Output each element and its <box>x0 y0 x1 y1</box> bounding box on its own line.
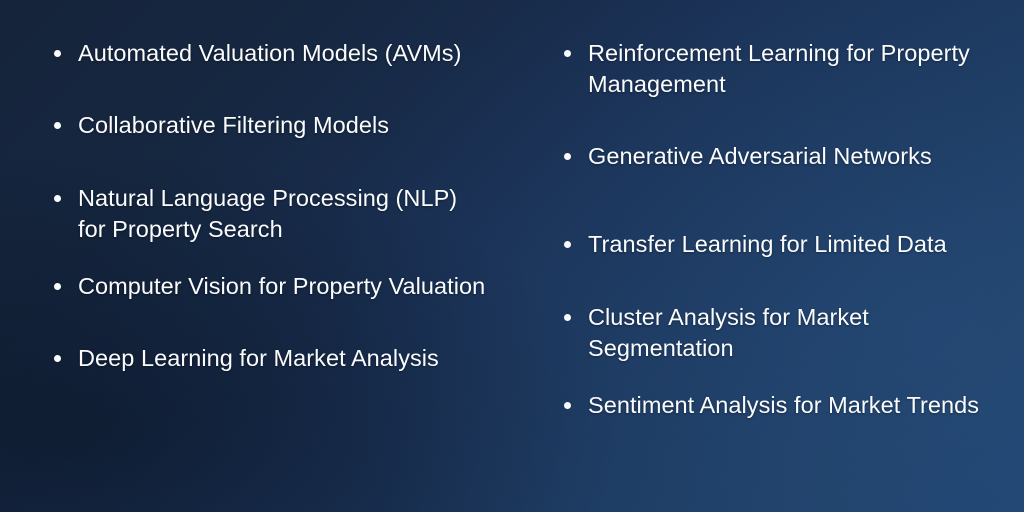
list-item-label: Generative Adversarial Networks <box>588 143 932 169</box>
slide-canvas: Automated Valuation Models (AVMs) Collab… <box>0 0 1024 512</box>
two-column-layout: Automated Valuation Models (AVMs) Collab… <box>0 0 1024 512</box>
list-item-label: Natural Language Processing (NLP) for Pr… <box>78 185 457 242</box>
right-column: Reinforcement Learning for Property Mana… <box>512 38 1024 512</box>
list-item: Computer Vision for Property Valuation <box>52 271 490 302</box>
list-item: Automated Valuation Models (AVMs) <box>52 38 490 69</box>
list-item: Natural Language Processing (NLP) for Pr… <box>52 183 490 245</box>
list-item-label: Cluster Analysis for Market Segmentation <box>588 304 869 361</box>
bullet-dot-icon <box>54 50 61 57</box>
bullet-dot-icon <box>564 153 571 160</box>
list-item: Generative Adversarial Networks <box>562 141 988 172</box>
left-column: Automated Valuation Models (AVMs) Collab… <box>0 38 512 512</box>
bullet-dot-icon <box>564 314 571 321</box>
list-item: Cluster Analysis for Market Segmentation <box>562 302 988 364</box>
bullet-dot-icon <box>54 355 61 362</box>
list-item: Sentiment Analysis for Market Trends <box>562 390 988 421</box>
list-item-label: Automated Valuation Models (AVMs) <box>78 40 461 66</box>
left-bullet-list: Automated Valuation Models (AVMs) Collab… <box>52 38 490 374</box>
bullet-dot-icon <box>564 241 571 248</box>
bullet-dot-icon <box>564 402 571 409</box>
list-item: Transfer Learning for Limited Data <box>562 229 988 260</box>
list-item-label: Transfer Learning for Limited Data <box>588 231 947 257</box>
list-item-label: Collaborative Filtering Models <box>78 112 389 138</box>
list-item-label: Computer Vision for Property Valuation <box>78 273 485 299</box>
bullet-dot-icon <box>54 283 61 290</box>
list-item-label: Sentiment Analysis for Market Trends <box>588 392 979 418</box>
list-item-label: Deep Learning for Market Analysis <box>78 345 439 371</box>
list-item: Collaborative Filtering Models <box>52 110 490 141</box>
right-bullet-list: Reinforcement Learning for Property Mana… <box>562 38 988 421</box>
bullet-dot-icon <box>54 195 61 202</box>
bullet-dot-icon <box>564 50 571 57</box>
bullet-dot-icon <box>54 122 61 129</box>
list-item: Reinforcement Learning for Property Mana… <box>562 38 988 100</box>
list-item: Deep Learning for Market Analysis <box>52 343 490 374</box>
list-item-label: Reinforcement Learning for Property Mana… <box>588 40 970 97</box>
